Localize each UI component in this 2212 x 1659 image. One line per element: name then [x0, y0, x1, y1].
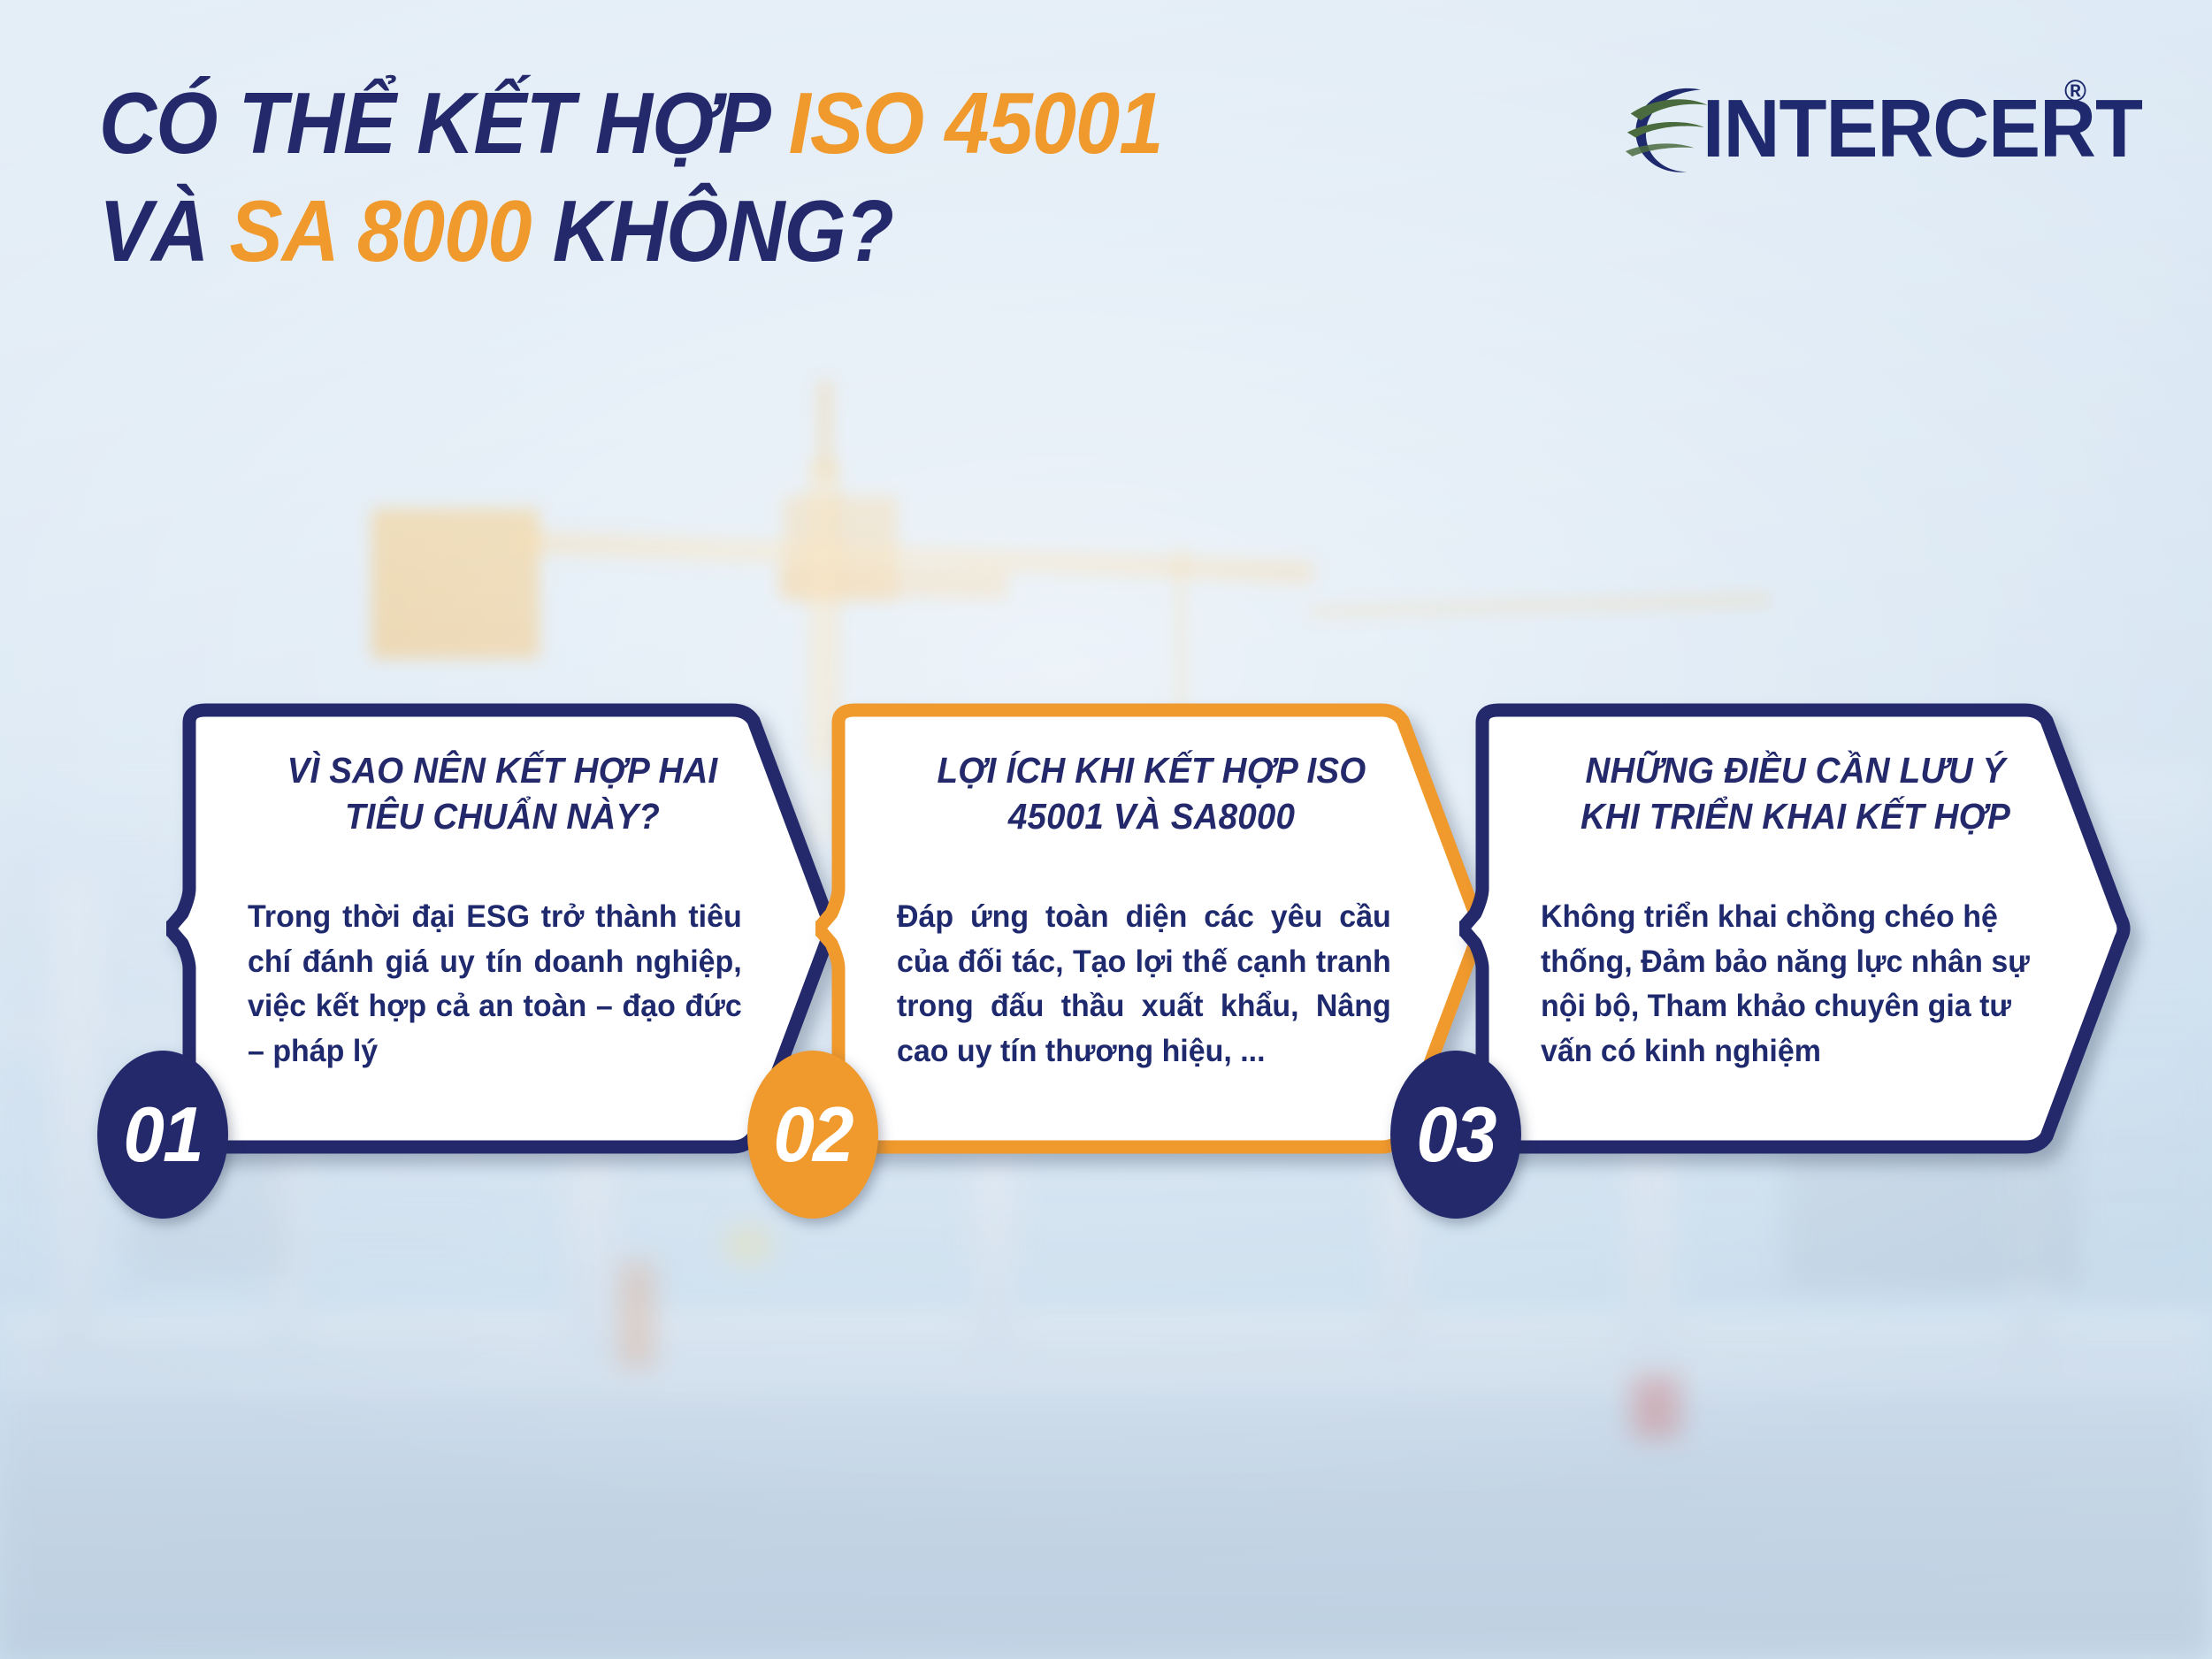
title-plain-2a: VÀ	[99, 182, 230, 279]
title-plain-2b: KHÔNG?	[532, 182, 893, 279]
registered-trademark-icon: ®	[2064, 74, 2086, 109]
step-number-badge-3: 03	[1390, 1051, 1521, 1219]
card-title: LỢI ÍCH KHI KẾT HỢP ISO 45001 VÀ SA8000	[912, 747, 1390, 840]
step-number-3: 03	[1416, 1089, 1495, 1180]
step-number-2: 02	[773, 1089, 852, 1180]
title-plain-1: CÓ THỂ KẾT HỢP	[99, 74, 789, 172]
brand-logo[interactable]: INTERCERT ®	[1621, 69, 2081, 184]
card-content: VÌ SAO NÊN KẾT HỢP HAI TIÊU CHUẨN NÀY? T…	[248, 742, 757, 1115]
page-title-line-1: CÓ THỂ KẾT HỢP ISO 45001	[99, 80, 1162, 166]
card-title: VÌ SAO NÊN KẾT HỢP HAI TIÊU CHUẨN NÀY?	[263, 747, 741, 840]
card-description: Trong thời đại ESG trở thành tiêu chí đá…	[248, 895, 742, 1074]
step-card-3[interactable]: NHỮNG ĐIỀU CẦN LƯU Ý KHI TRIỂN KHAI KẾT …	[1459, 703, 2132, 1154]
card-content: LỢI ÍCH KHI KẾT HỢP ISO 45001 VÀ SA8000 …	[897, 742, 1406, 1115]
step-number-badge-2: 02	[747, 1051, 878, 1219]
header: CÓ THỂ KẾT HỢP ISO 45001 VÀ SA 8000 KHÔN…	[0, 0, 2212, 380]
title-accent-1: ISO 45001	[789, 74, 1163, 172]
page-title-line-2: VÀ SA 8000 KHÔNG?	[99, 187, 893, 274]
step-card-1[interactable]: VÌ SAO NÊN KẾT HỢP HAI TIÊU CHUẨN NÀY? T…	[166, 703, 838, 1154]
title-underline-rule	[99, 330, 446, 340]
step-card-2[interactable]: LỢI ÍCH KHI KẾT HỢP ISO 45001 VÀ SA8000 …	[815, 703, 1488, 1154]
card-description: Không triển khai chồng chéo hệ thống, Đả…	[1541, 895, 2035, 1074]
title-accent-2: SA 8000	[230, 182, 532, 279]
step-number-1: 01	[123, 1089, 202, 1180]
card-content: NHỮNG ĐIỀU CẦN LƯU Ý KHI TRIỂN KHAI KẾT …	[1541, 742, 2050, 1115]
card-description: Đáp ứng toàn diện các yêu cầu của đối tá…	[897, 895, 1391, 1074]
card-title: NHỮNG ĐIỀU CẦN LƯU Ý KHI TRIỂN KHAI KẾT …	[1556, 747, 2034, 840]
step-number-badge-1: 01	[97, 1051, 228, 1219]
